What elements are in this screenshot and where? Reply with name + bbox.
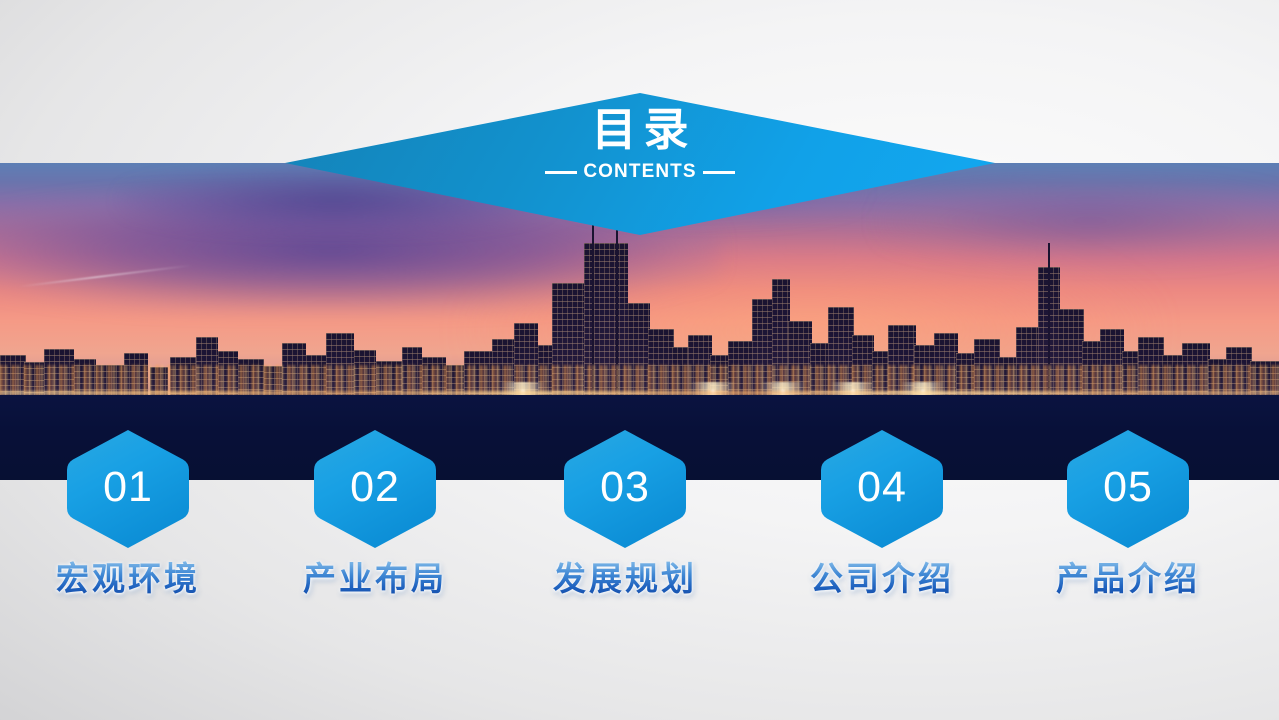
contents-item-01[interactable]: 01 宏观环境 — [28, 427, 228, 597]
contents-item-05[interactable]: 05 产品介绍 — [1028, 427, 1228, 597]
contents-item-label: 发展规划 — [525, 561, 725, 597]
hexagon-number: 04 — [857, 466, 907, 513]
hexagon-number: 01 — [103, 466, 153, 513]
contents-item-label: 公司介绍 — [782, 561, 982, 597]
contents-item-label: 产业布局 — [275, 561, 475, 597]
hexagon-badge-02[interactable]: 02 — [309, 427, 441, 551]
hexagon-number: 05 — [1103, 466, 1153, 513]
contents-item-03[interactable]: 03 发展规划 — [525, 427, 725, 597]
slide-canvas: 目录 CONTENTS 01 — [0, 0, 1279, 720]
hexagon-badge-01[interactable]: 01 — [62, 427, 194, 551]
contents-item-label: 宏观环境 — [28, 561, 228, 597]
hexagon-number: 03 — [600, 466, 650, 513]
contents-item-label: 产品介绍 — [1028, 561, 1228, 597]
hexagon-badge-05[interactable]: 05 — [1062, 427, 1194, 551]
hexagon-number: 02 — [350, 466, 400, 513]
contents-item-04[interactable]: 04 公司介绍 — [782, 427, 982, 597]
contents-nav: 01 宏观环境 02 产业布局 — [0, 0, 1279, 720]
hexagon-badge-04[interactable]: 04 — [816, 427, 948, 551]
contents-item-02[interactable]: 02 产业布局 — [275, 427, 475, 597]
hexagon-badge-03[interactable]: 03 — [559, 427, 691, 551]
